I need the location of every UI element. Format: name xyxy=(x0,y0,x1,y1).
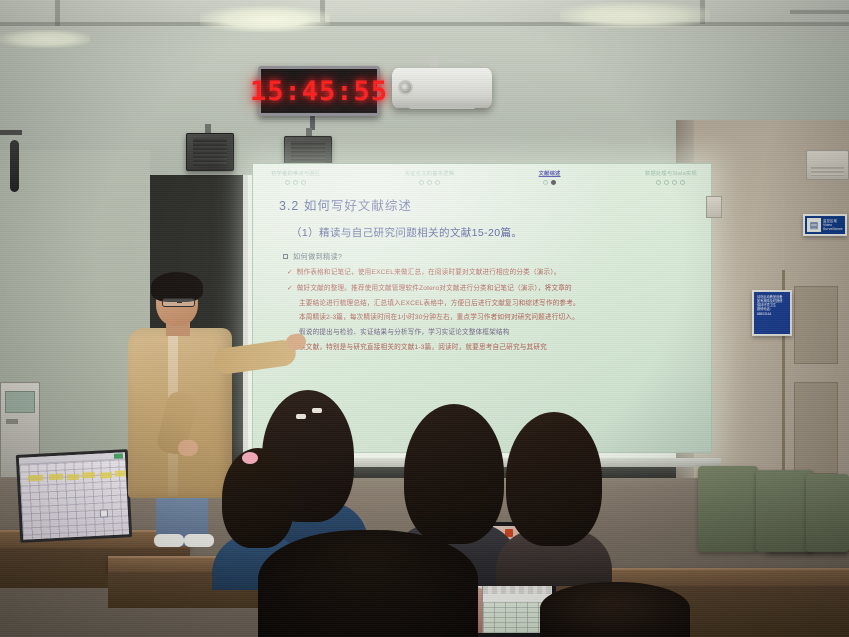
dot xyxy=(427,180,432,185)
cabinet-display-panel xyxy=(5,391,35,413)
slide-question: 如何做到精读? xyxy=(283,252,703,262)
chair-1[interactable] xyxy=(698,466,758,552)
ceiling-light-1 xyxy=(200,6,330,32)
slide-continuation-2: 本周精读2-3篇，每次精读时间在1小时30分钟左右，重点学习作者如何对研究问题进… xyxy=(299,314,703,323)
spreadsheet-grid xyxy=(19,452,129,539)
highlighted-cell xyxy=(67,474,79,481)
slide-continuation-4: 读文献，特别是与研究直接相关的文献1-3篇，阅读时，就要思考自己研究与其研究 xyxy=(299,344,703,353)
dot xyxy=(301,180,306,185)
door-panel-bottom xyxy=(794,382,838,474)
slide-continuation-3: 假说的提出与检验、实证结果与分析写作，学习实证论文整体框架结构 xyxy=(299,329,703,338)
slide-question-text: 如何做到精读? xyxy=(293,252,342,261)
hair-tie xyxy=(242,452,258,464)
dot xyxy=(680,180,685,185)
ceiling-beam-5 xyxy=(790,10,849,14)
camera-icon: ▤ xyxy=(807,218,821,232)
student-3-hair xyxy=(506,412,602,546)
classroom-door[interactable] xyxy=(782,270,849,500)
surveillance-sign: ▤ 监控区域 Video Surveillance xyxy=(803,214,847,236)
microphone-arm xyxy=(0,130,22,135)
highlighted-cell xyxy=(28,475,43,482)
checkbox-icon xyxy=(283,254,288,259)
nav-section-2-dots xyxy=(405,180,454,185)
nav-section-3-active[interactable]: 文献综述 xyxy=(539,172,561,185)
slide-bullet-2: ✓做好文献的整理。推荐使用文献管理软件Zotero对文献进行分类和记笔记（演示）… xyxy=(287,285,703,294)
slide-subheading: （1）精读与自己研究问题相关的文献15-20篇。 xyxy=(291,225,703,240)
nav-section-4-label: 数据处理与Stata实现 xyxy=(645,172,697,178)
student-3 xyxy=(496,412,612,582)
hair-clip xyxy=(312,408,322,413)
podium-laptop[interactable] xyxy=(16,449,132,543)
student-6-foreground-right xyxy=(540,582,690,637)
student-5-hair xyxy=(258,530,478,637)
podium-laptop-screen xyxy=(16,449,132,543)
dot xyxy=(672,180,677,185)
surveillance-line-2: Video Surveillance xyxy=(823,223,843,232)
door-panel-top xyxy=(794,286,838,364)
air-conditioner-vent xyxy=(806,150,849,180)
dot xyxy=(419,180,424,185)
instructor-shoe-left xyxy=(154,534,184,547)
slide-continuation-1: 主要结论进行梳理总结，汇总填入EXCEL表格中，方便日后进行文献复习和综述写作的… xyxy=(299,300,703,309)
dot xyxy=(543,180,548,185)
nav-section-1-label: 初学者的难点与困区 xyxy=(271,172,320,178)
highlighted-cell xyxy=(82,472,95,479)
hair-clip xyxy=(296,414,306,419)
slide-section-nav: 初学者的难点与困区 实证论文的基本逻辑 文献 xyxy=(261,168,703,185)
student-5-foreground xyxy=(258,530,478,637)
glasses-icon xyxy=(162,298,195,307)
highlighted-cell xyxy=(49,474,63,481)
nav-section-4-dots xyxy=(645,180,697,185)
notice-text: 请勿乱动教室设备 如有故障及时报修 保持环境卫生 报修电话：88903164 xyxy=(757,295,787,316)
nav-section-2-label: 实证论文的基本逻辑 xyxy=(405,172,454,178)
dot xyxy=(656,180,661,185)
slide-heading: 3.2 如何写好文献综述 xyxy=(279,195,703,214)
dot xyxy=(285,180,290,185)
highlighted-cell xyxy=(100,472,112,479)
nav-section-1[interactable]: 初学者的难点与困区 xyxy=(271,172,320,185)
chair-3[interactable] xyxy=(806,474,849,552)
student-6-hair xyxy=(540,582,690,637)
nav-section-4[interactable]: 数据处理与Stata实现 xyxy=(645,172,697,185)
ceiling-light-3 xyxy=(0,30,90,48)
ceiling-beam-1 xyxy=(0,22,849,26)
classroom-photo: 15:45:55 初学者的难点与困区 xyxy=(0,0,849,637)
dot xyxy=(664,180,669,185)
wall-speaker-left xyxy=(186,133,234,171)
projector-lens-icon xyxy=(398,80,413,95)
ceiling-light-2 xyxy=(560,2,710,28)
clock-time: 15:45:55 xyxy=(250,76,388,107)
dot xyxy=(435,180,440,185)
ceiling-beam-2 xyxy=(55,0,60,26)
ceiling-projector xyxy=(392,68,492,108)
surveillance-sign-text: 监控区域 Video Surveillance xyxy=(823,219,843,232)
instructor-shoe-right xyxy=(184,534,214,547)
nav-section-1-dots xyxy=(271,180,320,185)
spreadsheet-selected-cell[interactable] xyxy=(100,509,108,517)
dot-current xyxy=(551,180,556,185)
led-wall-clock: 15:45:55 xyxy=(258,66,380,116)
notice-line-4: 报修电话：88903164 xyxy=(757,307,787,315)
dot xyxy=(293,180,298,185)
slide-bullet-2-text: 做好文献的整理。推荐使用文献管理软件Zotero对文献进行分类和记笔记（演示），… xyxy=(297,285,572,292)
cabinet-handle[interactable] xyxy=(6,419,18,424)
equipment-notice-sign: 请勿乱动教室设备 如有故障及时报修 保持环境卫生 报修电话：88903164 xyxy=(752,290,792,336)
projector-bracket xyxy=(409,104,475,109)
nav-section-2[interactable]: 实证论文的基本逻辑 xyxy=(405,172,454,185)
wall-outlet-plate xyxy=(706,196,722,218)
slide-bullet-1: ✓制作表格和记笔记，使用EXCEL来做汇总，在阅读时要对文献进行相应的分类（演示… xyxy=(287,269,703,278)
wall-microphone xyxy=(10,140,19,192)
nav-section-3-dots xyxy=(539,180,561,185)
slide-bullet-1-text: 制作表格和记笔记，使用EXCEL来做汇总，在阅读时要对文献进行相应的分类（演示）… xyxy=(297,269,561,276)
student-2-hair xyxy=(404,404,504,544)
nav-section-3-label: 文献综述 xyxy=(539,172,561,178)
instructor-other-hand xyxy=(178,440,198,456)
